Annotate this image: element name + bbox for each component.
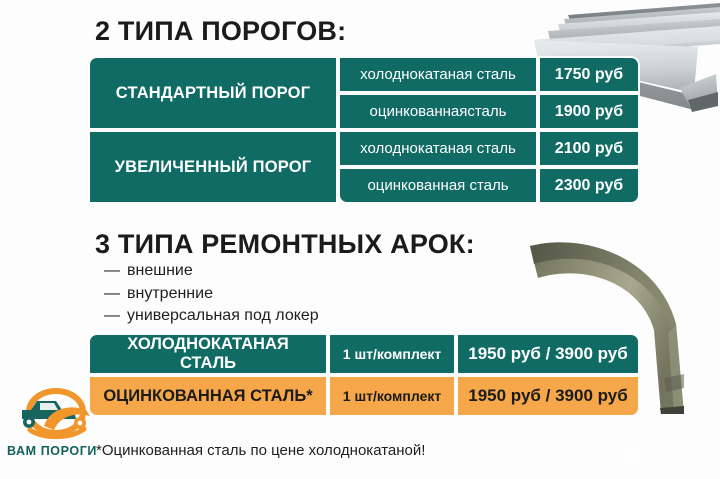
sill-category-enlarged: УВЕЛИЧЕННЫЙ ПОРОГ [88,130,338,204]
list-item: — универсальная под локер [104,305,319,328]
sill-category-standard: СТАНДАРТНЫЙ ПОРОГ [88,56,338,130]
sill-material: холоднокатаная сталь [338,130,538,167]
avito-dots-icon [624,446,644,466]
arch-types-list: — внешние — внутренние — универсальная п… [104,260,319,328]
dash-bullet-icon: — [104,260,120,283]
list-item: — внутренние [104,283,319,306]
table-row: УВЕЛИЧЕННЫЙ ПОРОГ холоднокатаная сталь 2… [88,130,640,167]
avito-watermark: Avito [624,443,700,469]
poster-root: 2 ТИПА ПОРОГОВ: СТАНДАРТНЫЙ ПОРОГ холодн… [0,0,720,479]
arch-material-galvanized: ОЦИНКОВАННАЯ СТАЛЬ* [88,375,328,417]
list-item: — внешние [104,260,319,283]
table-row: ОЦИНКОВАННАЯ СТАЛЬ* 1 шт/комплект 1950 р… [88,375,640,417]
sill-material: оцинкованная сталь [338,167,538,204]
arch-quantity: 1 шт/комплект [328,375,456,417]
list-item-label: универсальная под локер [127,305,319,328]
avito-watermark-label: Avito [648,443,700,469]
brand-logo-text: ВАМ ПОРОГИ [4,444,100,458]
sill-material: холоднокатаная сталь [338,56,538,93]
sills-price-table: СТАНДАРТНЫЙ ПОРОГ холоднокатаная сталь 1… [88,56,640,204]
dash-bullet-icon: — [104,305,120,328]
table-row: СТАНДАРТНЫЙ ПОРОГ холоднокатаная сталь 1… [88,56,640,93]
sill-price: 2300 руб [538,167,640,204]
car-logo-icon [4,386,100,442]
list-item-label: внутренние [127,283,213,306]
dash-bullet-icon: — [104,283,120,306]
sill-price: 2100 руб [538,130,640,167]
list-item-label: внешние [127,260,193,283]
page-title-sills: 2 ТИПА ПОРОГОВ: [95,16,346,47]
arch-quantity: 1 шт/комплект [328,333,456,375]
brand-logo: ВАМ ПОРОГИ [4,386,100,470]
arch-price: 1950 руб / 3900 руб [456,375,640,417]
sill-price: 1900 руб [538,93,640,130]
footnote-text: *Оцинкованная сталь по цене холоднокатан… [96,442,425,459]
sill-price: 1750 руб [538,56,640,93]
arch-material-cold-rolled: ХОЛОДНОКАТАНАЯ СТАЛЬ [88,333,328,375]
sill-material: оцинкованнаясталь [338,93,538,130]
arches-price-table: ХОЛОДНОКАТАНАЯ СТАЛЬ 1 шт/комплект 1950 … [88,333,640,417]
table-row: ХОЛОДНОКАТАНАЯ СТАЛЬ 1 шт/комплект 1950 … [88,333,640,375]
arch-price: 1950 руб / 3900 руб [456,333,640,375]
page-title-arches: 3 ТИПА РЕМОНТНЫХ АРОК: [95,229,475,260]
